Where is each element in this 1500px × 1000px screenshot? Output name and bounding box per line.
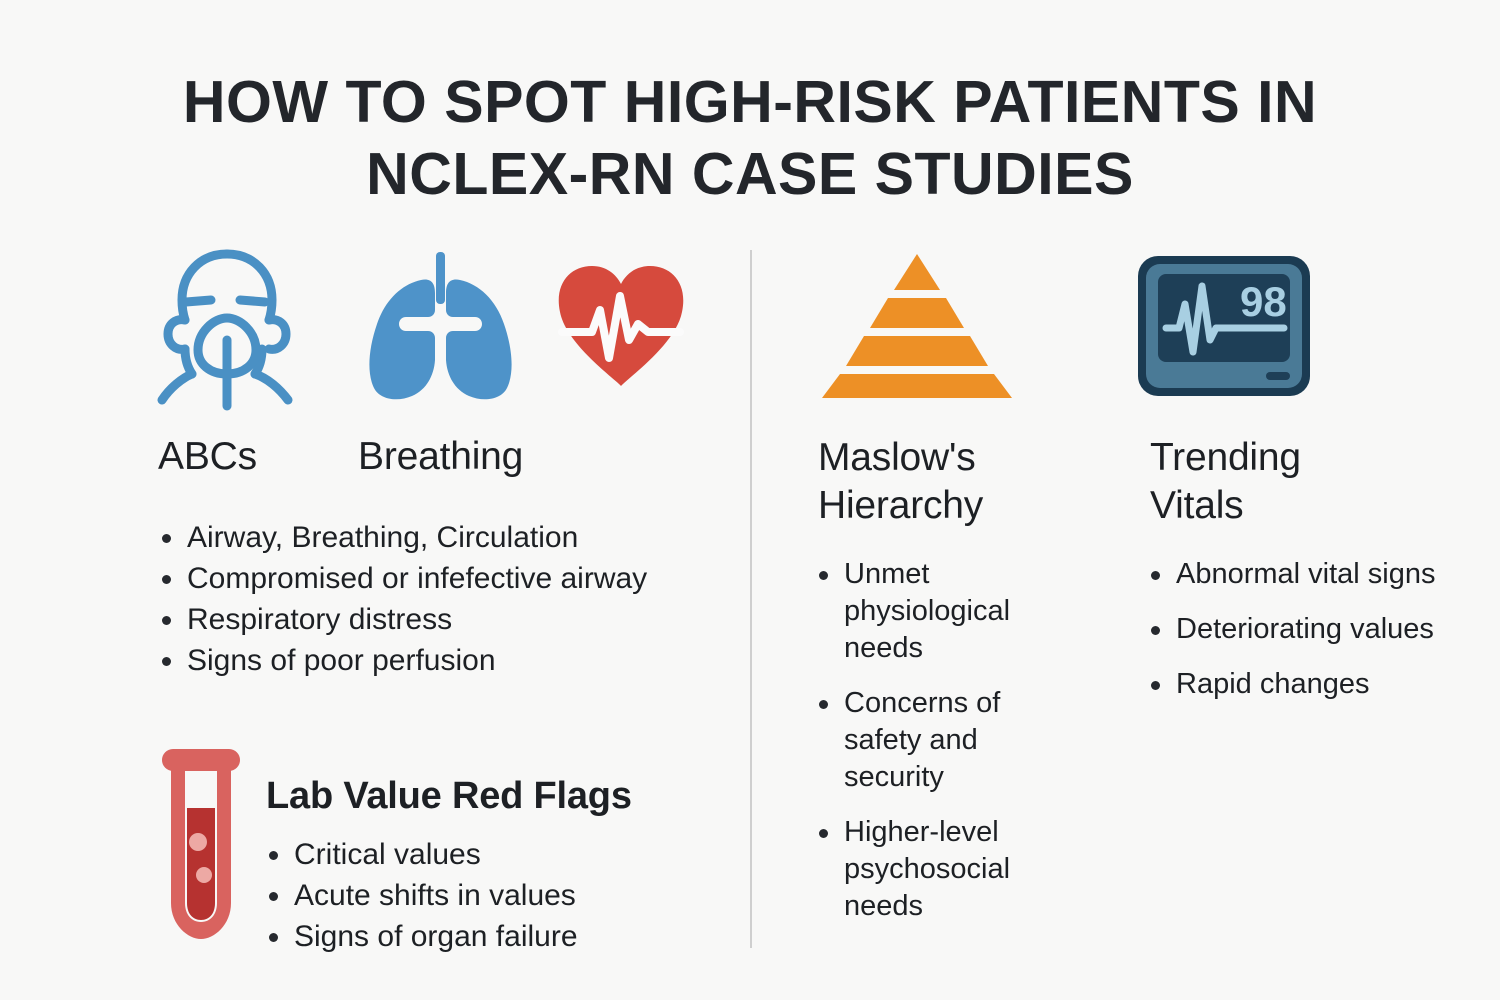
lab-value-bullet-list: Critical values Acute shifts in values S… <box>262 836 722 959</box>
list-item: Unmet physiological needs <box>812 556 1074 667</box>
heart-ecg-icon <box>556 262 686 388</box>
list-item: Higher-level psychosocial needs <box>812 814 1074 925</box>
list-item: Acute shifts in values <box>262 877 722 914</box>
list-item: Abnormal vital signs <box>1144 556 1444 593</box>
page-title: HOW TO SPOT HIGH-RISK PATIENTS IN NCLEX-… <box>0 66 1500 210</box>
list-item: Compromised or infefective airway <box>155 560 795 597</box>
list-item: Deteriorating values <box>1144 611 1444 648</box>
pyramid-icon <box>818 252 1016 400</box>
trending-vitals-bullet-list: Abnormal vital signs Deteriorating value… <box>1144 556 1444 721</box>
monitor-reading: 98 <box>1240 278 1287 325</box>
list-item: Rapid changes <box>1144 666 1444 703</box>
vital-signs-monitor-icon: 98 <box>1136 254 1312 398</box>
heading-breathing: Breathing <box>358 433 658 481</box>
test-tube-icon <box>158 745 244 945</box>
oxygen-mask-icon <box>152 248 302 413</box>
list-item: Airway, Breathing, Circulation <box>155 519 795 556</box>
list-item: Respiratory distress <box>155 601 795 638</box>
lungs-icon <box>358 252 523 402</box>
infographic-canvas: HOW TO SPOT HIGH-RISK PATIENTS IN NCLEX-… <box>0 0 1500 1000</box>
heading-maslows-hierarchy: Maslow's Hierarchy <box>818 434 1078 530</box>
heading-trending-vitals: Trending Vitals <box>1150 434 1410 530</box>
list-item: Critical values <box>262 836 722 873</box>
maslow-bullet-list: Unmet physiological needs Concerns of sa… <box>812 556 1074 943</box>
list-item: Signs of organ failure <box>262 918 722 955</box>
abcs-bullet-list: Airway, Breathing, Circulation Compromis… <box>155 519 795 683</box>
heading-lab-value-red-flags: Lab Value Red Flags <box>266 772 696 820</box>
list-item: Concerns of safety and security <box>812 685 1074 796</box>
list-item: Signs of poor perfusion <box>155 642 795 679</box>
